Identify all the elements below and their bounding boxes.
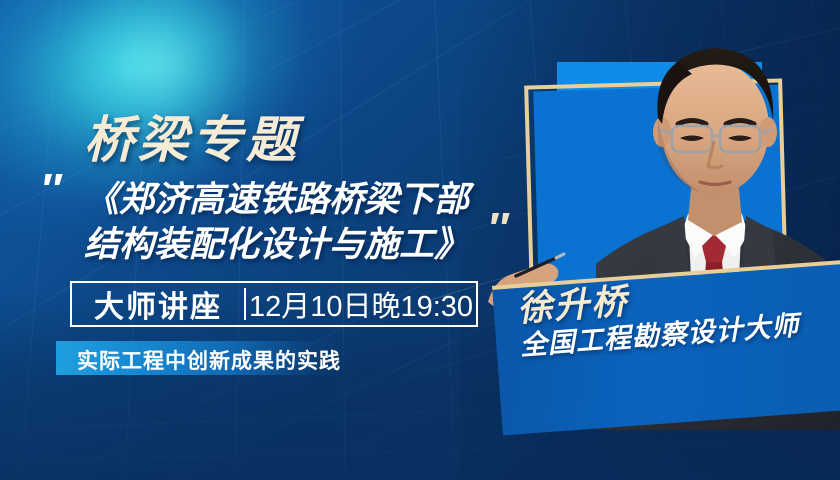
quote-close-mark: ″ [487, 207, 506, 251]
lecture-schedule-label: 12月10日晚19:30 [246, 283, 476, 325]
page-title: 《郑济高速铁路桥梁下部 结构装配化设计与施工》 [84, 178, 504, 268]
topic-label: 桥梁专题 [84, 100, 300, 172]
main-title-line-2: 结构装配化设计与施工》 [84, 223, 504, 268]
lecture-category-label: 大师讲座 [72, 283, 244, 325]
quote-open-mark: ″ [40, 168, 59, 212]
main-title-line-1: 《郑济高速铁路桥梁下部 [84, 178, 504, 223]
promo-poster: 徐升桥 全国工程勘察设计大师 桥梁专题 ″ 《郑济高速铁路桥梁下部 结构装配化设… [0, 0, 840, 480]
lecture-info-bar: 大师讲座 12月10日晚19:30 [70, 281, 478, 327]
subtitle-label: 实际工程中创新成果的实践 [77, 345, 341, 375]
